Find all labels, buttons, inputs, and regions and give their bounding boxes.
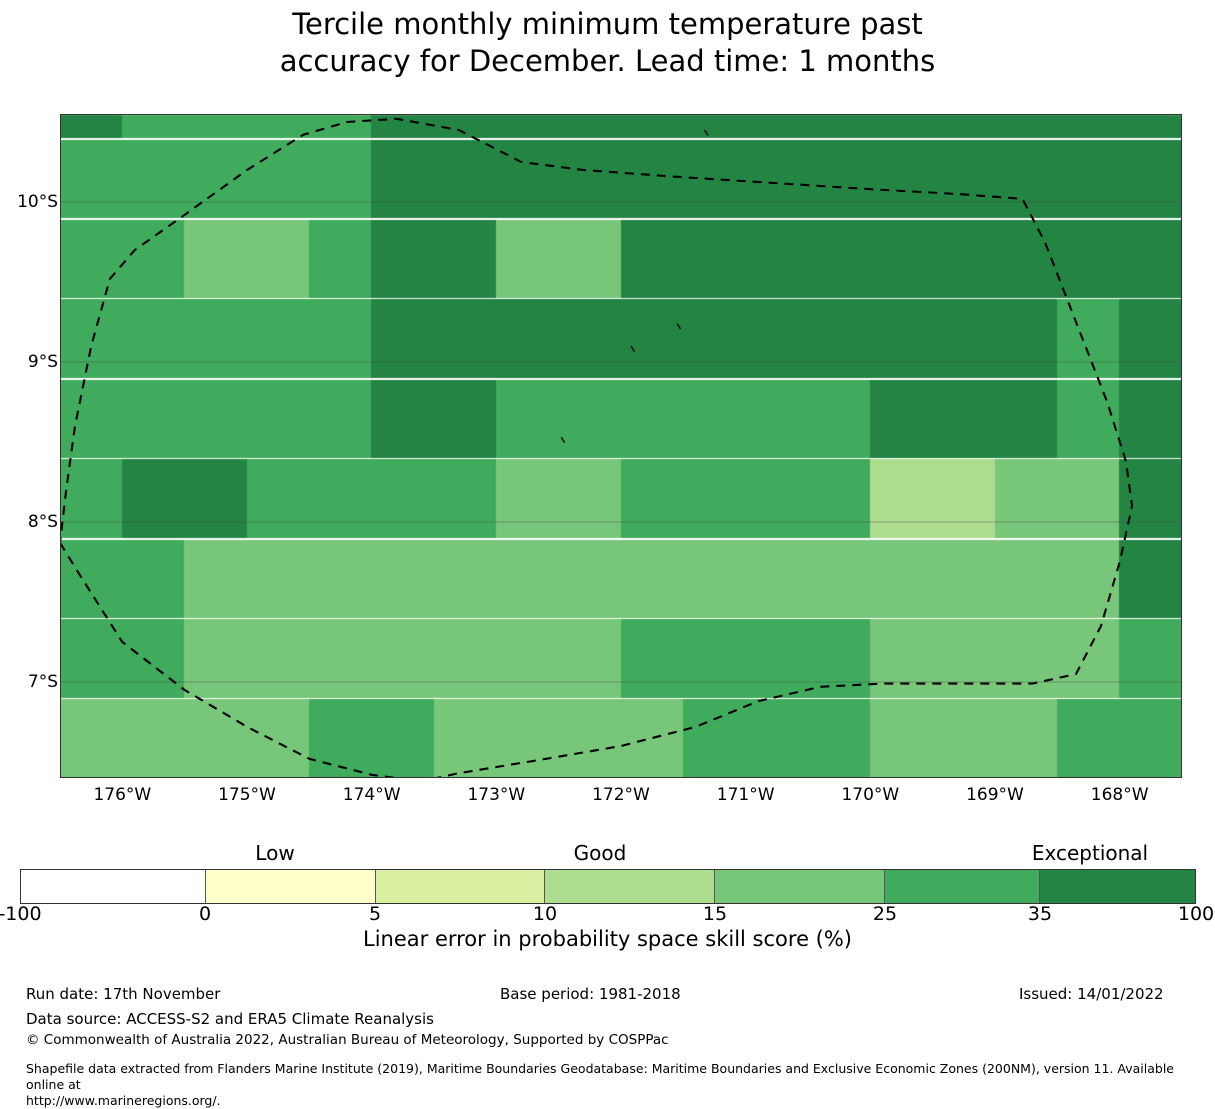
colorbar-segment [544, 870, 714, 903]
colorbar-segment [375, 870, 545, 903]
y-axis-tick-label: 8°S [0, 514, 58, 531]
colorbar-tick-label: 35 [980, 905, 1100, 924]
x-axis-tick-label: 168°W [1060, 787, 1180, 804]
colorbar-tick-label: 0 [145, 905, 265, 924]
footer-copyright: © Commonwealth of Australia 2022, Austra… [26, 1032, 669, 1048]
colorbar-category-label: Low [155, 843, 395, 863]
colorbar-tick-label: 100 [1136, 905, 1215, 924]
colorbar-tick-label: -100 [0, 905, 80, 924]
colorbar-category-label: Good [480, 843, 720, 863]
footer-run-date: Run date: 17th November [26, 985, 220, 1003]
colorbar-tick-label: 5 [315, 905, 435, 924]
colorbar-segment [205, 870, 375, 903]
x-axis-tick-label: 172°W [561, 787, 681, 804]
x-axis-tick-label: 175°W [187, 787, 307, 804]
colorbar-segment [21, 870, 205, 903]
page-title: Tercile monthly minimum temperature past… [0, 6, 1215, 80]
y-axis-tick-label: 9°S [0, 354, 58, 371]
colorbar-segment [884, 870, 1039, 903]
x-axis-tick-label: 173°W [436, 787, 556, 804]
colorbar [20, 869, 1196, 904]
x-axis-tick-label: 169°W [935, 787, 1055, 804]
heatmap-cells [60, 114, 1182, 778]
colorbar-category-label: Exceptional [970, 843, 1210, 863]
colorbar-gradient [20, 869, 1196, 904]
title-line-1: Tercile monthly minimum temperature past [0, 6, 1215, 43]
footer-shapefile-line-1: Shapefile data extracted from Flanders M… [26, 1061, 1174, 1092]
title-line-2: accuracy for December. Lead time: 1 mont… [0, 43, 1215, 80]
footer-base-period: Base period: 1981-2018 [500, 985, 681, 1003]
heatmap-map [60, 114, 1182, 778]
footer-shapefile-note: Shapefile data extracted from Flanders M… [26, 1061, 1196, 1109]
x-axis-tick-label: 176°W [62, 787, 182, 804]
footer-data-source: Data source: ACCESS-S2 and ERA5 Climate … [26, 1010, 434, 1028]
colorbar-tick-label: 10 [485, 905, 605, 924]
colorbar-segment [1039, 870, 1195, 903]
x-axis-tick-label: 171°W [686, 787, 806, 804]
footer-issued-date: Issued: 14/01/2022 [1019, 985, 1164, 1003]
colorbar-segment [714, 870, 884, 903]
y-axis-tick-label: 10°S [0, 194, 58, 211]
colorbar-tick-label: 15 [655, 905, 775, 924]
x-axis-tick-label: 174°W [312, 787, 432, 804]
x-axis-tick-label: 170°W [810, 787, 930, 804]
colorbar-tick-label: 25 [825, 905, 945, 924]
y-axis-tick-label: 7°S [0, 674, 58, 691]
footer-shapefile-line-2: http://www.marineregions.org/. [26, 1093, 1196, 1109]
colorbar-axis-label: Linear error in probability space skill … [0, 928, 1215, 951]
